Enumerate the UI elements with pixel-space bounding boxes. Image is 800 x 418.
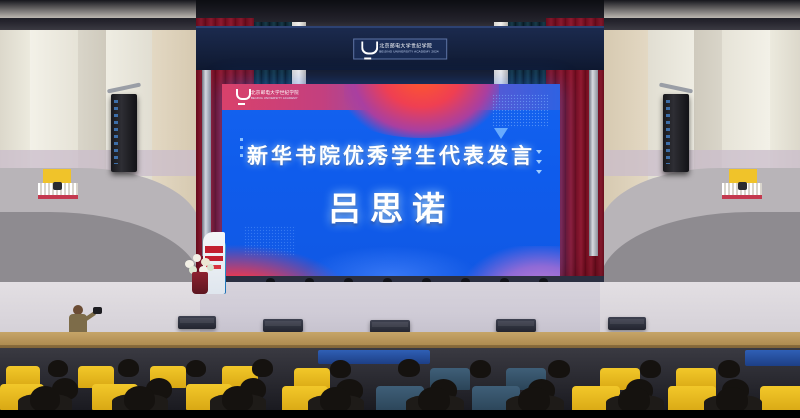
header-logo-box: 北京邮电大学世纪学院 BEIJING UNIVERSITY ACADEMY 20… xyxy=(353,39,447,60)
audience-head xyxy=(640,360,661,378)
stage-monitor-wedge-1 xyxy=(178,316,216,329)
audience-head xyxy=(618,387,650,410)
audience-head xyxy=(470,360,491,378)
wall-plaque-left-accent xyxy=(38,195,78,199)
wall-camera-icon-right xyxy=(738,182,747,190)
ceiling-right-soffit xyxy=(604,0,800,18)
audience-head xyxy=(48,360,68,377)
slide-logo: 北京邮电大学世纪学院 BEIJING UNIVERSITY ACADEMY xyxy=(236,89,299,102)
university-u-logo-icon xyxy=(361,42,374,57)
wall-camera-icon-left xyxy=(53,182,62,190)
flower-vase xyxy=(192,272,208,294)
audience-head xyxy=(330,360,351,378)
audio-console-right xyxy=(745,350,800,366)
audience-area xyxy=(0,348,800,410)
camera-icon xyxy=(93,307,102,314)
wall-plaque-right-accent xyxy=(722,195,762,199)
led-header-panel: 北京邮电大学世纪学院 BEIJING UNIVERSITY ACADEMY 20… xyxy=(196,26,604,70)
ceiling-left-soffit xyxy=(0,0,196,18)
audience-head xyxy=(320,387,351,410)
stage-monitor-wedge-2 xyxy=(263,319,303,332)
slide-logo-english: BEIJING UNIVERSITY ACADEMY xyxy=(251,97,299,100)
header-logo-english: BEIJING UNIVERSITY ACADEMY 2024 xyxy=(379,51,439,54)
audience-head xyxy=(186,360,206,377)
line-array-speaker-left xyxy=(111,94,137,172)
audience-head xyxy=(518,387,550,410)
exit-sign-right xyxy=(729,169,757,183)
auditorium-scene: 北京邮电大学世纪学院 BEIJING UNIVERSITY ACADEMY 20… xyxy=(0,0,800,418)
slide-triangle-accent-icon xyxy=(494,128,508,139)
seat-row2-9 xyxy=(760,386,800,410)
stage-monitor-wedge-5 xyxy=(608,317,646,330)
audience-head xyxy=(118,359,139,377)
exit-sign-left xyxy=(43,169,71,183)
university-u-logo-icon xyxy=(236,89,247,102)
audience-head xyxy=(548,360,570,378)
audience-head xyxy=(716,387,748,410)
line-array-speaker-right xyxy=(663,94,689,172)
slide-bottom-hump xyxy=(303,246,479,276)
slide-speaker-name: 吕思诺 xyxy=(222,182,560,230)
audience-head xyxy=(124,386,155,410)
slide-dot-grid-top-right xyxy=(492,94,548,128)
audience-head xyxy=(718,360,740,378)
letterbox-bottom-bar xyxy=(0,410,800,418)
audience-head xyxy=(30,386,60,410)
led-screen: 北京邮电大学世纪学院 BEIJING UNIVERSITY ACADEMY 新华… xyxy=(222,84,560,282)
audience-head xyxy=(398,359,420,377)
slide-title: 新华书院优秀学生代表发言 xyxy=(222,140,560,170)
audience-head xyxy=(222,386,253,410)
audience-head xyxy=(252,359,273,377)
stage-monitor-wedge-4 xyxy=(496,319,536,332)
audience-head xyxy=(418,387,450,410)
